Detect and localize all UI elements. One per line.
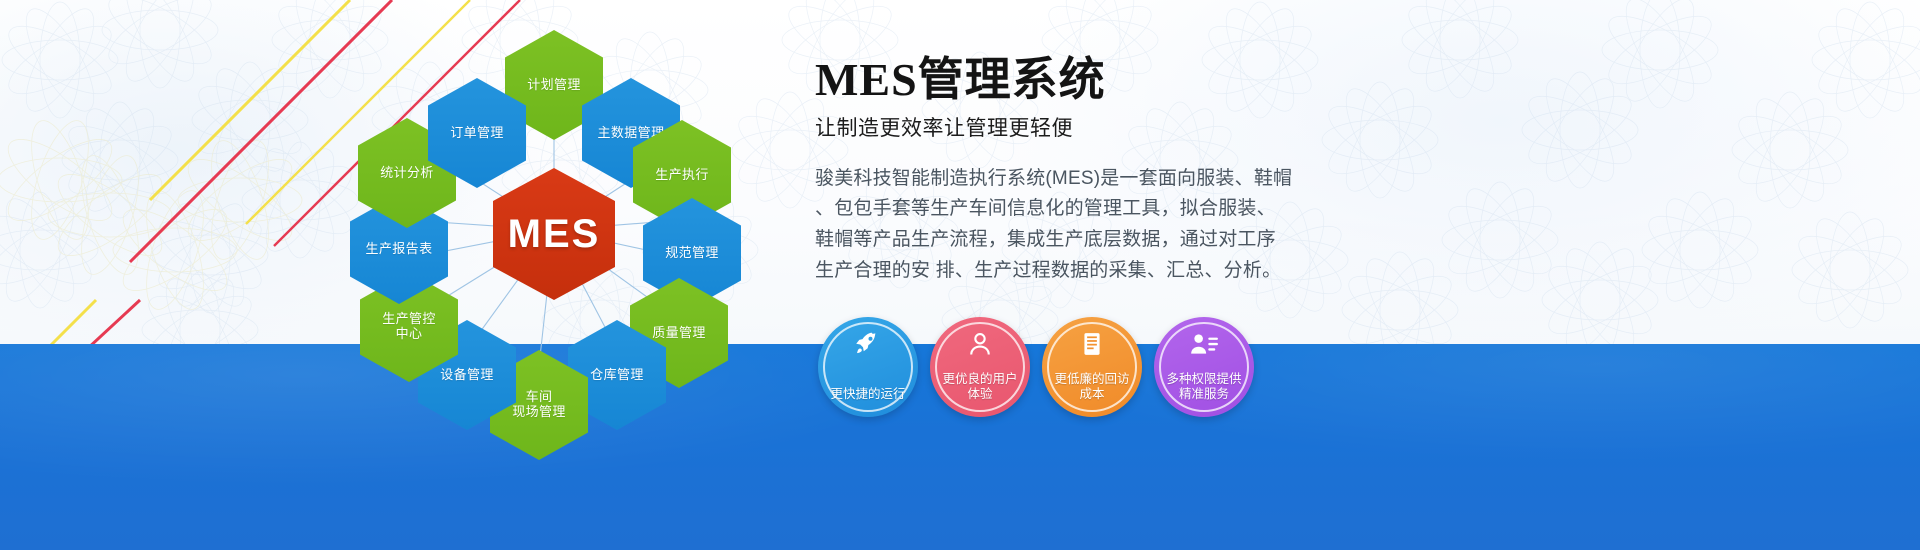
document-icon	[1042, 330, 1142, 358]
hexagon-node-label: 质量管理	[648, 326, 710, 341]
page-subtitle: 让制造更效率让管理更轻便	[815, 112, 1875, 142]
badge-label-line: 更低廉的回访	[1046, 372, 1138, 388]
badge-speed[interactable]: 更快捷的运行	[818, 317, 918, 417]
feature-badge-group: 更快捷的运行更优良的用户体验更低廉的回访成本多种权限提供精准服务	[818, 305, 1378, 415]
hero-text-panel: MES管理系统 让制造更效率让管理更轻便 骏美科技智能制造执行系统(MES)是一…	[815, 55, 1875, 287]
hexagon-node-label: 统计分析	[376, 166, 438, 181]
badge-label-line: 体验	[934, 387, 1026, 403]
description-line: 生产合理的安 排、生产过程数据的采集、汇总、分析。	[815, 256, 1275, 287]
hexagon-node-label: 生产执行	[651, 168, 713, 183]
description-line: 骏美科技智能制造执行系统(MES)是一套面向服装、鞋帽	[815, 164, 1275, 195]
badge-label: 更快捷的运行	[822, 387, 914, 403]
badge-label: 更低廉的回访成本	[1046, 372, 1138, 403]
badge-experience[interactable]: 更优良的用户体验	[930, 317, 1030, 417]
badge-cost[interactable]: 更低廉的回访成本	[1042, 317, 1142, 417]
badge-label-line: 精准服务	[1158, 387, 1250, 403]
badge-label-line: 多种权限提供	[1158, 372, 1250, 388]
badge-label-line: 更优良的用户	[934, 372, 1026, 388]
badge-label-line: 更快捷的运行	[822, 387, 914, 403]
hexagon-center-mes[interactable]: MES	[493, 168, 615, 300]
user-icon	[930, 330, 1030, 358]
badge-label: 多种权限提供精准服务	[1158, 372, 1250, 403]
hero-description: 骏美科技智能制造执行系统(MES)是一套面向服装、鞋帽 、包包手套等生产车间信息…	[815, 164, 1275, 287]
hexagon-node-label: 计划管理	[523, 78, 585, 93]
hexagon-node-label: 仓库管理	[586, 368, 648, 383]
page-title: MES管理系统	[815, 55, 1875, 106]
badge-permission[interactable]: 多种权限提供精准服务	[1154, 317, 1254, 417]
hexagon-center-label: MES	[504, 212, 605, 257]
banner-stage: MES 计划管理主数据管理生产执行规范管理质量管理仓库管理车间现场管理设备管理生…	[0, 0, 1920, 550]
hexagon-node-label: 车间现场管理	[508, 390, 570, 419]
hexagon-node-label: 生产管控中心	[378, 312, 440, 341]
description-line: 、包包手套等生产车间信息化的管理工具，拟合服装、	[815, 194, 1275, 225]
rocket-icon	[818, 330, 918, 360]
user-list-icon	[1154, 330, 1254, 358]
description-line: 鞋帽等产品生产流程，集成生产底层数据，通过对工序	[815, 225, 1275, 256]
mes-hexagon-diagram: MES 计划管理主数据管理生产执行规范管理质量管理仓库管理车间现场管理设备管理生…	[330, 20, 780, 440]
badge-label-line: 成本	[1046, 387, 1138, 403]
hexagon-node-label: 生产报告表	[361, 242, 436, 257]
hexagon-node-label: 设备管理	[436, 368, 498, 383]
hexagon-node-label: 订单管理	[446, 126, 508, 141]
hexagon-node-label: 规范管理	[661, 246, 723, 261]
badge-label: 更优良的用户体验	[934, 372, 1026, 403]
